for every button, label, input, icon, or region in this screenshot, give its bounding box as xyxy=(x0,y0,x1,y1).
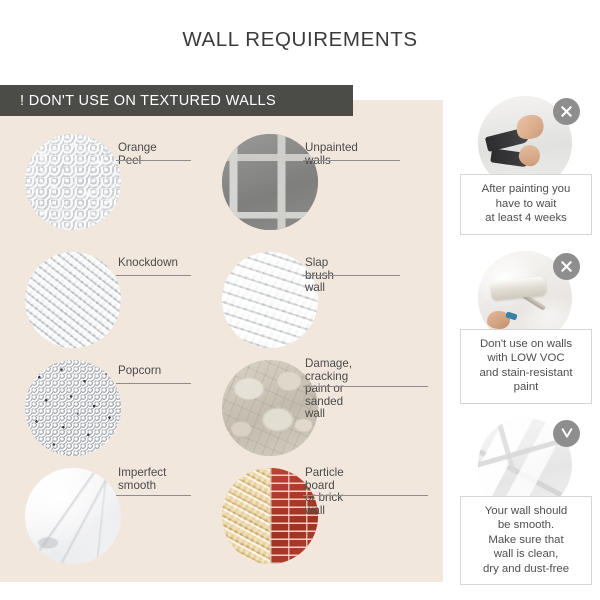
page-title: WALL REQUIREMENTS xyxy=(0,28,600,52)
texture-swatch-popcorn xyxy=(25,360,121,456)
texture-swatch-damaged-wall xyxy=(222,360,318,456)
texture-swatch-unpainted-walls xyxy=(222,134,318,230)
texture-label-rule xyxy=(116,383,191,384)
texture-label-rule xyxy=(303,160,400,161)
texture-label: Particle board or brick wall xyxy=(305,467,344,517)
texture-swatch-slap-brush-wall xyxy=(222,252,318,348)
note-card-wait-4-weeks[interactable]: After painting you have to wait at least… xyxy=(452,96,600,235)
texture-label-rule xyxy=(116,275,191,276)
note-card-low-voc[interactable]: Don't use on walls with LOW VOC and stai… xyxy=(452,251,600,404)
texture-swatch-particle-board-brick xyxy=(222,468,318,564)
texture-label: Knockdown xyxy=(118,257,178,270)
texture-swatch-imperfect-smooth xyxy=(25,468,121,564)
cross-icon xyxy=(553,253,580,280)
texture-label: Damage, cracking paint or sanded wall xyxy=(305,358,352,421)
texture-label-rule xyxy=(303,386,428,387)
note-card-smooth-wall[interactable]: Your wall should be smooth. Make sure th… xyxy=(452,418,600,586)
check-icon xyxy=(553,420,580,447)
texture-label-rule xyxy=(303,275,400,276)
texture-label: Orange Peel xyxy=(118,142,157,167)
note-caption: Don't use on walls with LOW VOC and stai… xyxy=(460,329,592,404)
texture-swatch-knockdown xyxy=(25,252,121,348)
texture-label: Popcorn xyxy=(118,365,161,378)
cross-icon xyxy=(553,98,580,125)
texture-label: Unpainted walls xyxy=(305,142,358,167)
texture-label: Imperfect smooth xyxy=(118,467,166,492)
note-caption: Your wall should be smooth. Make sure th… xyxy=(460,496,592,586)
texture-label-rule xyxy=(116,160,191,161)
notes-column: After painting you have to wait at least… xyxy=(452,96,600,585)
texture-swatch-orange-peel xyxy=(25,134,121,230)
texture-grid: Orange Peel Unpainted walls Knockdown Sl… xyxy=(0,100,443,582)
texture-label-rule xyxy=(303,495,428,496)
texture-label-rule xyxy=(116,495,191,496)
note-caption: After painting you have to wait at least… xyxy=(460,174,592,235)
